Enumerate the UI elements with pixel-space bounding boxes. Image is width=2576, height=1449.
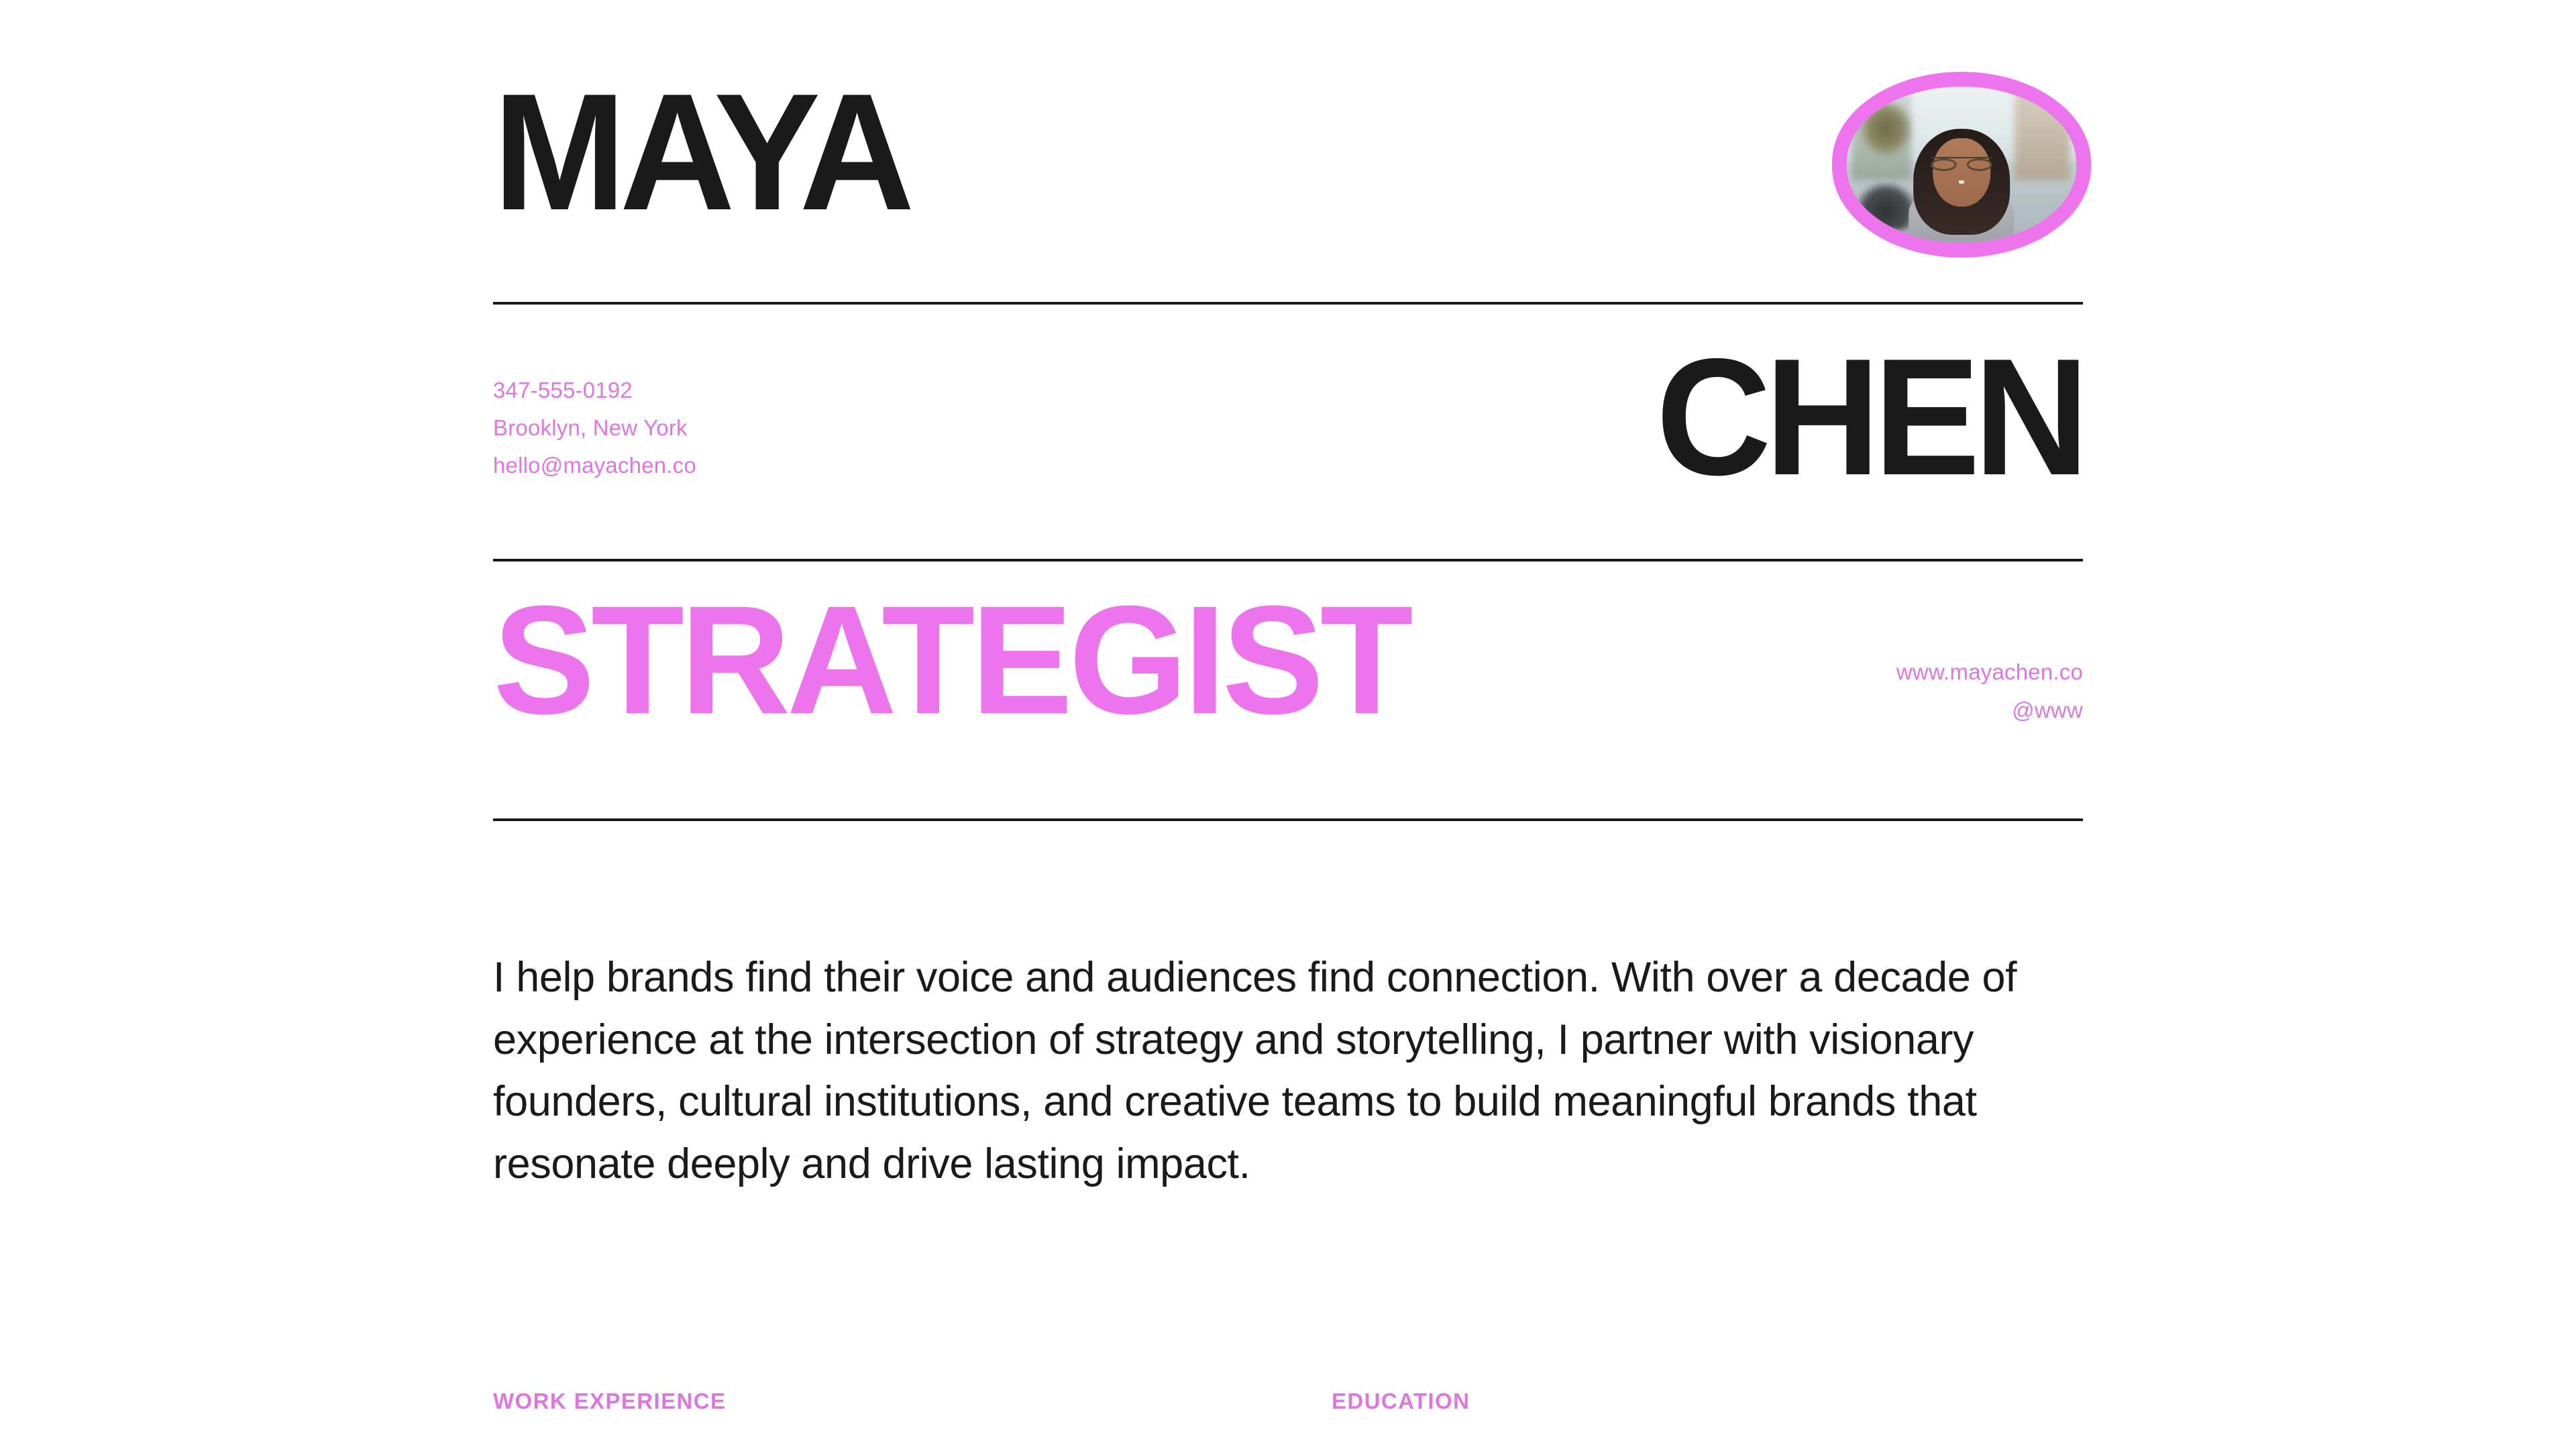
divider-top xyxy=(493,302,2083,305)
divider-bottom xyxy=(493,818,2083,821)
contact-email[interactable]: hello@mayachen.co xyxy=(493,454,696,476)
avatar xyxy=(1832,72,2091,258)
contact-phone[interactable]: 347-555-0192 xyxy=(493,379,696,401)
bio-paragraph: I help brands find their voice and audie… xyxy=(493,947,2083,1195)
website-link[interactable]: www.mayachen.co xyxy=(1896,661,2083,683)
links-block: www.mayachen.co @www xyxy=(1896,661,2083,737)
photo-building-right xyxy=(2015,90,2070,180)
glasses-lens-left xyxy=(1931,158,1957,171)
last-name-heading: CHEN xyxy=(1656,349,2083,485)
photo-car xyxy=(1856,183,1916,230)
first-name-heading: MAYA xyxy=(493,84,908,220)
resume-page: MAYA 347-555-0192 Brooklyn, New York hel… xyxy=(0,0,2576,1449)
glasses-icon xyxy=(1931,157,1992,171)
photo-tree xyxy=(1861,102,1911,155)
glasses-lens-right xyxy=(1966,158,1992,171)
section-label-work-experience: WORK EXPERIENCE xyxy=(493,1389,726,1414)
contact-location: Brooklyn, New York xyxy=(493,417,696,439)
social-handle[interactable]: @www xyxy=(1896,699,2083,721)
avatar-photo xyxy=(1847,87,2076,243)
photo-person-smile xyxy=(1959,180,1965,183)
contact-block: 347-555-0192 Brooklyn, New York hello@ma… xyxy=(493,379,696,492)
divider-middle xyxy=(493,559,2083,561)
section-label-education: EDUCATION xyxy=(1332,1389,1470,1414)
photo-person-face xyxy=(1933,138,1990,207)
role-title-heading: STRATEGIST xyxy=(493,597,1409,724)
